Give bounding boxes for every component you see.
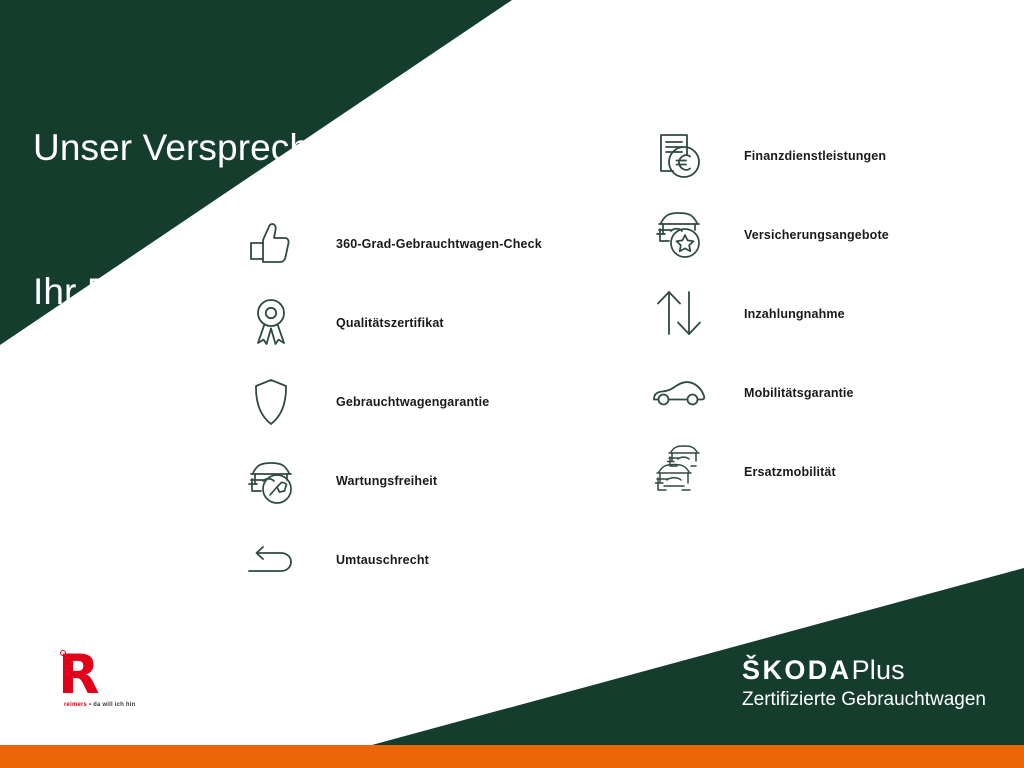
feature-item: Mobilitätsgarantie <box>646 353 889 432</box>
skoda-logo-row: ŠKODAPlus <box>742 655 986 685</box>
feature-list-right: Finanzdienstleistungen Versicherungsange… <box>646 116 889 511</box>
award-rosette-icon <box>238 290 304 356</box>
skoda-plus-logo: ŠKODAPlus Zertifizierte Gebrauchtwagen <box>742 655 986 712</box>
promo-banner: Unser Versprechen. Ihr Plus. 360-Grad-Ge… <box>0 0 1024 768</box>
feature-label: Ersatzmobilität <box>744 465 836 479</box>
skoda-brand-text: ŠKODA <box>742 655 852 685</box>
orange-footer-bar <box>0 745 1024 768</box>
feature-item: Finanzdienstleistungen <box>646 116 889 195</box>
dealer-logo-tagline: reimers • da will ich hin <box>64 702 135 708</box>
feature-label: 360-Grad-Gebrauchtwagen-Check <box>336 237 542 251</box>
feature-label: Inzahlungnahme <box>744 307 845 321</box>
feature-label: Qualitätszertifikat <box>336 316 444 330</box>
dealer-tagline-rest: • da will ich hin <box>87 702 135 708</box>
dealer-tagline-brand: reimers <box>64 702 87 708</box>
car-side-icon <box>646 360 712 426</box>
up-down-arrows-icon <box>646 281 712 347</box>
feature-label: Wartungsfreiheit <box>336 474 437 488</box>
dealer-logo-letter: R <box>58 648 100 702</box>
feature-label: Finanzdienstleistungen <box>744 149 886 163</box>
two-cars-icon <box>646 439 712 505</box>
feature-item: Umtauschrecht <box>238 520 542 599</box>
feature-item: Qualitätszertifikat <box>238 283 542 362</box>
skoda-plus-text: Plus <box>852 655 905 685</box>
feature-label: Umtauschrecht <box>336 553 429 567</box>
feature-item: Wartungsfreiheit <box>238 441 542 520</box>
skoda-tagline: Zertifizierte Gebrauchtwagen <box>742 688 986 712</box>
dealer-logo-registered-mark <box>60 650 66 656</box>
return-arrow-icon <box>238 527 304 593</box>
dealer-logo: R reimers • da will ich hin <box>46 640 166 712</box>
feature-label: Versicherungsangebote <box>744 228 889 242</box>
feature-item: Ersatzmobilität <box>646 432 889 511</box>
thumbs-up-icon <box>238 211 304 277</box>
car-star-icon <box>646 202 712 268</box>
shield-icon <box>238 369 304 435</box>
feature-list-left: 360-Grad-Gebrauchtwagen-Check Qualitätsz… <box>238 204 542 599</box>
feature-item: Versicherungsangebote <box>646 195 889 274</box>
car-wrench-icon <box>238 448 304 514</box>
feature-item: 360-Grad-Gebrauchtwagen-Check <box>238 204 542 283</box>
document-euro-icon <box>646 123 712 189</box>
feature-item: Gebrauchtwagengarantie <box>238 362 542 441</box>
headline-line-1: Unser Versprechen. <box>33 124 362 172</box>
feature-label: Mobilitätsgarantie <box>744 386 854 400</box>
feature-label: Gebrauchtwagengarantie <box>336 395 489 409</box>
feature-item: Inzahlungnahme <box>646 274 889 353</box>
